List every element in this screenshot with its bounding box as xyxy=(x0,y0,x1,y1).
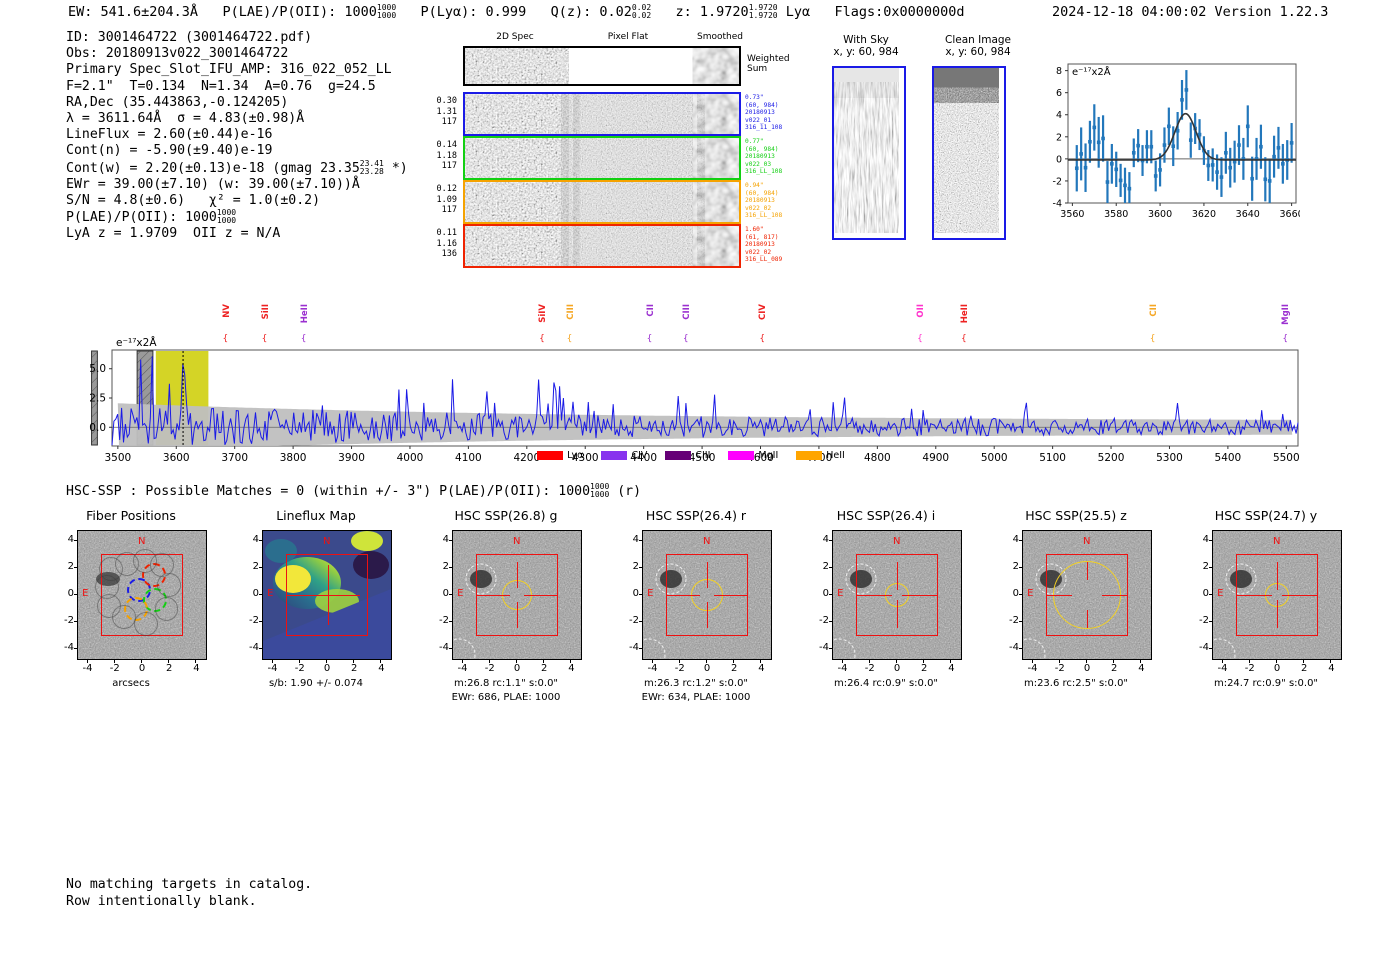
header-qz-label: Q(z): 0.02 xyxy=(551,4,632,20)
east-label: E xyxy=(267,588,273,599)
cutout-image[interactable]: NE xyxy=(262,530,392,660)
axis-tick-mark xyxy=(1209,594,1212,595)
axis-tick-mark xyxy=(516,660,517,663)
spec2d-row-stats: 0.141.18117 xyxy=(423,140,457,172)
axis-tick-mark xyxy=(1019,648,1022,649)
spec2d-row-stats: 0.111.16136 xyxy=(423,228,457,260)
axis-tick-mark xyxy=(760,660,761,663)
legend-item: CIII xyxy=(665,450,710,461)
axis-tick-mark xyxy=(1019,594,1022,595)
axis-tick-x: -2 xyxy=(483,663,497,674)
axis-tick-mark xyxy=(639,567,642,568)
axis-tick-y: 4 xyxy=(810,534,829,545)
axis-tick-mark xyxy=(489,660,490,663)
axis-tick-mark xyxy=(449,648,452,649)
legend-label: CIV xyxy=(631,450,647,461)
with-sky-image xyxy=(832,66,906,240)
axis-tick-mark xyxy=(259,540,262,541)
axis-tick-x: -4 xyxy=(646,663,660,674)
cutout-panel-title: HSC SSP(26.4) i xyxy=(796,508,976,523)
svg-text:3660: 3660 xyxy=(1280,209,1300,220)
axis-tick-mark xyxy=(829,540,832,541)
header-qz-fraction: 0.020.02 xyxy=(632,4,651,20)
legend-label: MgII xyxy=(758,450,778,461)
emission-line-label: SiIV xyxy=(538,304,548,323)
svg-text:0.0: 0.0 xyxy=(89,422,106,434)
east-label: E xyxy=(1217,588,1223,599)
axis-tick-y: 4 xyxy=(430,534,449,545)
north-label: N xyxy=(323,536,330,547)
emission-line-brace-icon: { xyxy=(567,334,573,344)
hsc-title-pre: HSC-SSP : Possible Matches = 0 (within +… xyxy=(66,484,590,499)
emission-line-brace-icon: { xyxy=(759,334,765,344)
emission-line-label: CIV xyxy=(758,304,768,320)
axis-tick-mark xyxy=(639,621,642,622)
cutout-image[interactable]: NE xyxy=(832,530,962,660)
axis-tick-mark xyxy=(543,660,544,663)
axis-tick-mark xyxy=(733,660,734,663)
info-contw-pre: Cont(w) = 2.20(±0.13)e-18 (gmag 23.35 xyxy=(66,161,360,176)
axis-tick-mark xyxy=(652,660,653,663)
footer-notes: No matching targets in catalog. Row inte… xyxy=(66,877,312,910)
emission-line-label: CIII xyxy=(682,304,692,320)
spec2d-row-metadata-line: v022_02 xyxy=(745,205,782,213)
axis-tick-mark xyxy=(1032,660,1033,663)
emission-line-brace-icon: { xyxy=(1282,334,1288,344)
legend-item: CIV xyxy=(601,450,647,461)
axis-tick-x: 2 xyxy=(537,663,551,674)
crosshair-horizontal xyxy=(1046,595,1072,596)
axis-tick-x: 0 xyxy=(890,663,904,674)
emission-line-brace-icon: { xyxy=(683,334,689,344)
svg-text:6: 6 xyxy=(1056,88,1062,99)
spec2d-row-metadata-line: (61, 817) xyxy=(745,234,782,242)
axis-tick-mark xyxy=(1209,621,1212,622)
axis-tick-mark xyxy=(326,660,327,663)
axis-tick-mark xyxy=(1303,660,1304,663)
clean-image-coords: x, y: 60, 984 xyxy=(945,46,1010,58)
axis-tick-mark xyxy=(259,594,262,595)
axis-tick-y: 2 xyxy=(1000,561,1019,572)
spec2d-row-metadata: 0.73"(60, 984)20180913v022_01316_11_108 xyxy=(745,94,782,132)
svg-text:8: 8 xyxy=(1056,66,1062,77)
axis-tick-y: 0 xyxy=(620,588,639,599)
axis-tick-mark xyxy=(1019,567,1022,568)
axis-tick-x: -2 xyxy=(1243,663,1257,674)
axis-tick-mark xyxy=(829,621,832,622)
east-label: E xyxy=(647,588,653,599)
axis-tick-mark xyxy=(449,594,452,595)
cutout-panel-subtitle: m:23.6 rc:2.5" s:0.0" xyxy=(986,678,1166,689)
axis-tick-x: 0 xyxy=(1270,663,1284,674)
emission-line-zoom-chart: 356035803600362036403660-4-202468e⁻¹⁷x2Å xyxy=(1038,58,1300,223)
axis-tick-mark xyxy=(74,648,77,649)
emission-line-label: CIII xyxy=(566,304,576,320)
cutout-panel-title: HSC SSP(24.7) y xyxy=(1176,508,1356,523)
crosshair-vertical xyxy=(707,562,708,587)
cutout-panel: HSC SSP(26.4) rNE-4-2024420-2-4m:26.3 rc… xyxy=(620,508,800,738)
crosshair-vertical xyxy=(1087,562,1088,580)
object-info-block: ID: 3001464722 (3001464722.pdf) Obs: 201… xyxy=(66,30,408,243)
with-sky-title: With Sky xyxy=(843,34,889,46)
axis-tick-mark xyxy=(168,660,169,663)
crosshair-vertical xyxy=(1277,600,1278,627)
legend-swatch xyxy=(796,451,822,460)
svg-text:3560: 3560 xyxy=(1060,209,1084,220)
axis-tick-mark xyxy=(950,660,951,663)
header-ew: EW: 541.6±204.3Å xyxy=(68,4,198,20)
clean-image-image xyxy=(932,66,1006,240)
axis-tick-mark xyxy=(923,660,924,663)
axis-tick-y: -4 xyxy=(1000,642,1019,653)
svg-text:-4: -4 xyxy=(1053,199,1062,210)
svg-text:0: 0 xyxy=(1056,154,1062,165)
cutout-image[interactable]: NE xyxy=(642,530,772,660)
axis-tick-mark xyxy=(1222,660,1223,663)
info-line-primary: Primary Spec_Slot_IFU_AMP: 316_022_052_L… xyxy=(66,62,408,78)
emission-line-label: OII xyxy=(916,304,926,318)
axis-tick-y: -4 xyxy=(430,642,449,653)
spec2d-col-title-pixelflat: Pixel Flat xyxy=(573,32,683,42)
axis-tick-mark xyxy=(380,660,381,663)
axis-tick-y: -2 xyxy=(240,615,259,626)
axis-tick-mark xyxy=(1086,660,1087,663)
east-label: E xyxy=(837,588,843,599)
cutout-panel-subtitle: EWr: 634, PLAE: 1000 xyxy=(606,692,786,703)
spec2d-row-metadata-line: 20180913 xyxy=(745,109,782,117)
axis-tick-mark xyxy=(449,567,452,568)
cutout-panel: HSC SSP(26.4) iNE-4-2024420-2-4m:26.4 rc… xyxy=(810,508,990,738)
axis-tick-y: 2 xyxy=(430,561,449,572)
axis-tick-x: 0 xyxy=(135,663,149,674)
legend-label: HeII xyxy=(826,450,845,461)
legend-item: HeII xyxy=(796,450,845,461)
axis-tick-mark xyxy=(259,648,262,649)
axis-tick-mark xyxy=(1019,540,1022,541)
axis-tick-y: -4 xyxy=(620,642,639,653)
cutout-panel: Fiber PositionsNE-4-2024420-2-4arcsecs xyxy=(55,508,235,738)
axis-tick-x: 4 xyxy=(754,663,768,674)
emission-line-brace-icon: { xyxy=(301,334,307,344)
axis-tick-x: 4 xyxy=(944,663,958,674)
spec2d-row-metadata: 1.60"(61, 817)20180913v022_02316_LL_089 xyxy=(745,226,782,264)
crosshair-horizontal xyxy=(1282,595,1317,596)
axis-tick-y: -2 xyxy=(810,615,829,626)
crosshair-horizontal xyxy=(714,595,748,596)
crosshair-horizontal xyxy=(666,595,700,596)
axis-tick-y: 2 xyxy=(1190,561,1209,572)
axis-tick-x: 2 xyxy=(727,663,741,674)
fiber-circle-background xyxy=(134,612,158,636)
axis-tick-x: 2 xyxy=(1107,663,1121,674)
axis-tick-y: 0 xyxy=(1000,588,1019,599)
axis-tick-mark xyxy=(1249,660,1250,663)
axis-tick-mark xyxy=(639,540,642,541)
info-line-ewr: EWr = 39.00(±7.10) (w: 39.00(±7.10))Å xyxy=(66,177,408,193)
north-label: N xyxy=(138,536,145,547)
spec2d-row-stats: 0.301.31117 xyxy=(423,96,457,128)
svg-text:4: 4 xyxy=(1056,110,1062,121)
cutout-panel-subtitle: s/b: 1.90 +/- 0.074 xyxy=(226,678,406,689)
axis-tick-x: -2 xyxy=(1053,663,1067,674)
cutout-panel-title: HSC SSP(26.8) g xyxy=(416,508,596,523)
axis-tick-x: 0 xyxy=(700,663,714,674)
axis-tick-y: 4 xyxy=(1000,534,1019,545)
axis-tick-y: 0 xyxy=(1190,588,1209,599)
axis-tick-mark xyxy=(1276,660,1277,663)
axis-tick-y: 4 xyxy=(620,534,639,545)
axis-tick-mark xyxy=(353,660,354,663)
spec2d-row-stat-value: 1.31 xyxy=(423,107,457,118)
axis-tick-mark xyxy=(1059,660,1060,663)
cutout-panel-row: Fiber PositionsNE-4-2024420-2-4arcsecsLi… xyxy=(0,508,1400,738)
east-label: E xyxy=(82,588,88,599)
spec2d-row-metadata-line: (60, 984) xyxy=(745,102,782,110)
spec2d-row-stat-value: 117 xyxy=(423,117,457,128)
axis-tick-y: -2 xyxy=(1190,615,1209,626)
axis-tick-x: 2 xyxy=(347,663,361,674)
axis-tick-y: -4 xyxy=(1190,642,1209,653)
timestamp-version: 2024-12-18 04:00:02 Version 1.22.3 xyxy=(1052,4,1328,20)
spec2d-row-metadata-line: 1.60" xyxy=(745,226,782,234)
header-z-label: z: 1.9720 xyxy=(676,4,749,20)
emission-line-label: CII xyxy=(1149,304,1159,317)
emission-line-brace-icon: { xyxy=(1150,334,1156,344)
axis-tick-mark xyxy=(74,567,77,568)
axis-tick-x: -4 xyxy=(456,663,470,674)
cutout-image[interactable]: NE xyxy=(1212,530,1342,660)
spec2d-row-metadata-line: 20180913 xyxy=(745,153,782,161)
axis-tick-mark xyxy=(679,660,680,663)
spec2d-row-metadata-line: 316_LL_108 xyxy=(745,168,782,176)
spec2d-row-stats: 0.121.09117 xyxy=(423,184,457,216)
header-z-fraction: 1.97201.9720 xyxy=(749,4,778,20)
spec2d-fiber-row xyxy=(463,92,741,136)
cutout-panel-title: HSC SSP(25.5) z xyxy=(986,508,1166,523)
axis-tick-x: 0 xyxy=(510,663,524,674)
spec2d-row-stat-value: 1.18 xyxy=(423,151,457,162)
axis-tick-mark xyxy=(829,594,832,595)
crosshair-vertical xyxy=(517,562,518,588)
axis-tick-y: 0 xyxy=(55,588,74,599)
spec2d-row-metadata-line: (60, 984) xyxy=(745,146,782,154)
info-contw-post: *) xyxy=(392,161,408,176)
spec2d-row-metadata-line: 0.73" xyxy=(745,94,782,102)
cutout-image[interactable]: NE xyxy=(77,530,207,660)
cutout-panel-title: Lineflux Map xyxy=(226,508,406,523)
legend-swatch xyxy=(665,451,691,460)
legend-swatch xyxy=(601,451,627,460)
axis-tick-mark xyxy=(259,621,262,622)
north-label: N xyxy=(513,536,520,547)
axis-tick-x: -4 xyxy=(1026,663,1040,674)
legend-item: MgII xyxy=(728,450,778,461)
info-contw-fraction: 23.4123.28 xyxy=(360,160,384,176)
info-line-id: ID: 3001464722 (3001464722.pdf) xyxy=(66,30,408,46)
axis-tick-x: 4 xyxy=(374,663,388,674)
header-plya: P(Lyα): 0.999 xyxy=(421,4,527,20)
crosshair-horizontal xyxy=(524,595,558,596)
emission-line-brace-icon: { xyxy=(917,334,923,344)
hsc-ssp-summary: HSC-SSP : Possible Matches = 0 (within +… xyxy=(66,483,641,499)
axis-tick-mark xyxy=(639,648,642,649)
spec2d-row-stat-value: 0.11 xyxy=(423,228,457,239)
spec2d-fiber-row xyxy=(463,136,741,180)
axis-tick-mark xyxy=(299,660,300,663)
header-plae-label: P(LAE)/P(OII): 1000 xyxy=(222,4,376,20)
axis-tick-y: 4 xyxy=(240,534,259,545)
spec2d-row-stat-value: 0.14 xyxy=(423,140,457,151)
cutout-panel: Lineflux MapNE-4-2024420-2-4s/b: 1.90 +/… xyxy=(240,508,420,738)
emission-line-brace-icon: { xyxy=(223,334,229,344)
axis-tick-mark xyxy=(706,660,707,663)
axis-tick-y: -2 xyxy=(55,615,74,626)
spec2d-fiber-row xyxy=(463,180,741,224)
svg-text:-2: -2 xyxy=(1053,176,1062,187)
cutout-image[interactable]: NE xyxy=(1022,530,1152,660)
axis-tick-x: -4 xyxy=(836,663,850,674)
cutout-panel-subtitle: m:26.8 rc:1.1" s:0.0" xyxy=(416,678,596,689)
crosshair-vertical xyxy=(707,602,708,627)
axis-tick-y: 4 xyxy=(1190,534,1209,545)
north-label: N xyxy=(893,536,900,547)
spec2d-row-metadata-line: 0.77" xyxy=(745,138,782,146)
svg-text:3640: 3640 xyxy=(1236,209,1260,220)
info-line-plae: P(LAE)/P(OII): 100010001000 xyxy=(66,209,408,226)
axis-tick-x: -4 xyxy=(81,663,95,674)
footer-line-1: No matching targets in catalog. xyxy=(66,877,312,894)
axis-tick-y: 2 xyxy=(810,561,829,572)
emission-line-label: NV xyxy=(222,304,232,318)
crosshair-vertical xyxy=(1277,562,1278,589)
spec2d-col-title-2dspec: 2D Spec xyxy=(455,32,575,42)
svg-text:2.5: 2.5 xyxy=(89,393,106,405)
emission-line-brace-icon: { xyxy=(262,334,268,344)
axis-tick-mark xyxy=(195,660,196,663)
hsc-title-post: (r) xyxy=(617,484,641,499)
svg-text:5.0: 5.0 xyxy=(89,363,106,375)
axis-tick-x: -4 xyxy=(1216,663,1230,674)
axis-tick-mark xyxy=(272,660,273,663)
cutout-image[interactable]: NE xyxy=(452,530,582,660)
east-label: E xyxy=(457,588,463,599)
header-z-species: Lyα xyxy=(786,4,810,20)
axis-tick-x: 4 xyxy=(189,663,203,674)
spec2d-weighted-sum-row xyxy=(463,46,741,86)
spec2d-row-metadata-line: v022_02 xyxy=(745,249,782,257)
axis-tick-mark xyxy=(896,660,897,663)
spec2d-row-stat-value: 117 xyxy=(423,205,457,216)
axis-tick-x: 2 xyxy=(917,663,931,674)
cutout-panel: HSC SSP(25.5) zNE-4-2024420-2-4m:23.6 rc… xyxy=(1000,508,1180,738)
crosshair-horizontal xyxy=(902,595,937,596)
spec2d-row-metadata: 0.94"(60, 984)20180913v022_02316_LL_108 xyxy=(745,182,782,220)
crosshair-horizontal xyxy=(856,595,891,596)
axis-tick-x: -2 xyxy=(293,663,307,674)
fiber-circle-background xyxy=(155,597,179,621)
crosshair-vertical xyxy=(897,562,898,589)
axis-tick-x: -4 xyxy=(266,663,280,674)
spec2d-row-metadata-line: v022_03 xyxy=(745,161,782,169)
axis-tick-x: 4 xyxy=(1134,663,1148,674)
header-flags: Flags:0x0000000d xyxy=(835,4,965,20)
cutout-panel-title: HSC SSP(26.4) r xyxy=(606,508,786,523)
axis-tick-y: 0 xyxy=(240,588,259,599)
axis-tick-y: -4 xyxy=(810,642,829,653)
axis-tick-mark xyxy=(1019,621,1022,622)
info-line-lineflux: LineFlux = 2.60(±0.44)e-16 xyxy=(66,127,408,143)
svg-text:3580: 3580 xyxy=(1104,209,1128,220)
emission-line-label: HeII xyxy=(300,304,310,323)
axis-tick-x: 4 xyxy=(1324,663,1338,674)
with-sky-coords: x, y: 60, 984 xyxy=(833,46,898,58)
axis-tick-mark xyxy=(1330,660,1331,663)
info-line-radec: RA,Dec (35.443863,-0.124205) xyxy=(66,95,408,111)
emission-line-label: HeII xyxy=(960,304,970,323)
spec2d-weighted-sum-label: WeightedSum xyxy=(747,54,790,74)
axis-tick-mark xyxy=(1209,540,1212,541)
emission-line-label: CII xyxy=(646,304,656,317)
spec2d-row-stat-value: 136 xyxy=(423,249,457,260)
info-plae-fraction: 10001000 xyxy=(217,209,236,225)
crosshair-vertical xyxy=(328,565,329,625)
info-line-obs: Obs: 20180913v022_3001464722 xyxy=(66,46,408,62)
header-plae-fraction: 10001000 xyxy=(377,4,396,20)
axis-tick-y: 2 xyxy=(240,561,259,572)
legend-item: Lyα xyxy=(537,450,583,461)
crosshair-vertical xyxy=(897,600,898,627)
axis-tick-mark xyxy=(87,660,88,663)
north-label: N xyxy=(703,536,710,547)
axis-tick-y: -4 xyxy=(55,642,74,653)
axis-tick-mark xyxy=(1209,648,1212,649)
axis-tick-x: -2 xyxy=(108,663,122,674)
crosshair-horizontal xyxy=(1102,595,1128,596)
spec2d-row-metadata-line: 20180913 xyxy=(745,197,782,205)
legend-swatch xyxy=(537,451,563,460)
cutout-panel-title: Fiber Positions xyxy=(41,508,221,523)
spectrum-legend: LyαCIVCIIIMgIIHeII xyxy=(0,450,1400,461)
emission-line-label: MgII xyxy=(1281,304,1291,325)
axis-tick-mark xyxy=(74,621,77,622)
cutout-panel: HSC SSP(24.7) yNE-4-2024420-2-4m:24.7 rc… xyxy=(1190,508,1370,738)
linezoom-svg: 356035803600362036403660-4-202468e⁻¹⁷x2Å xyxy=(1038,58,1300,223)
axis-tick-y: -4 xyxy=(240,642,259,653)
north-label: N xyxy=(1273,536,1280,547)
axis-tick-mark xyxy=(842,660,843,663)
spec2d-row-metadata: 0.77"(60, 984)20180913v022_03316_LL_108 xyxy=(745,138,782,176)
clean-image-title: Clean Image xyxy=(945,34,1011,46)
axis-tick-mark xyxy=(141,660,142,663)
crosshair-horizontal xyxy=(476,595,510,596)
axis-tick-x: 4 xyxy=(564,663,578,674)
axis-tick-mark xyxy=(829,648,832,649)
spec2d-row-metadata-line: 0.94" xyxy=(745,182,782,190)
axis-tick-y: 0 xyxy=(810,588,829,599)
info-line-fwhm: F=2.1" T=0.134 N=1.34 A=0.76 g=24.5 xyxy=(66,79,408,95)
spec2d-row-metadata-line: 316_LL_089 xyxy=(745,256,782,264)
svg-text:e⁻¹⁷x2Å: e⁻¹⁷x2Å xyxy=(116,336,157,349)
spec2d-row-metadata-line: 316_LL_108 xyxy=(745,212,782,220)
axis-tick-mark xyxy=(639,594,642,595)
header-summary-line: EW: 541.6±204.3Å P(LAE)/P(OII): 10001000… xyxy=(68,4,965,20)
axis-tick-mark xyxy=(1113,660,1114,663)
axis-tick-x: 2 xyxy=(1297,663,1311,674)
axis-tick-mark xyxy=(1140,660,1141,663)
axis-tick-x: 0 xyxy=(320,663,334,674)
axis-tick-mark xyxy=(869,660,870,663)
emission-line-brace-icon: { xyxy=(647,334,653,344)
